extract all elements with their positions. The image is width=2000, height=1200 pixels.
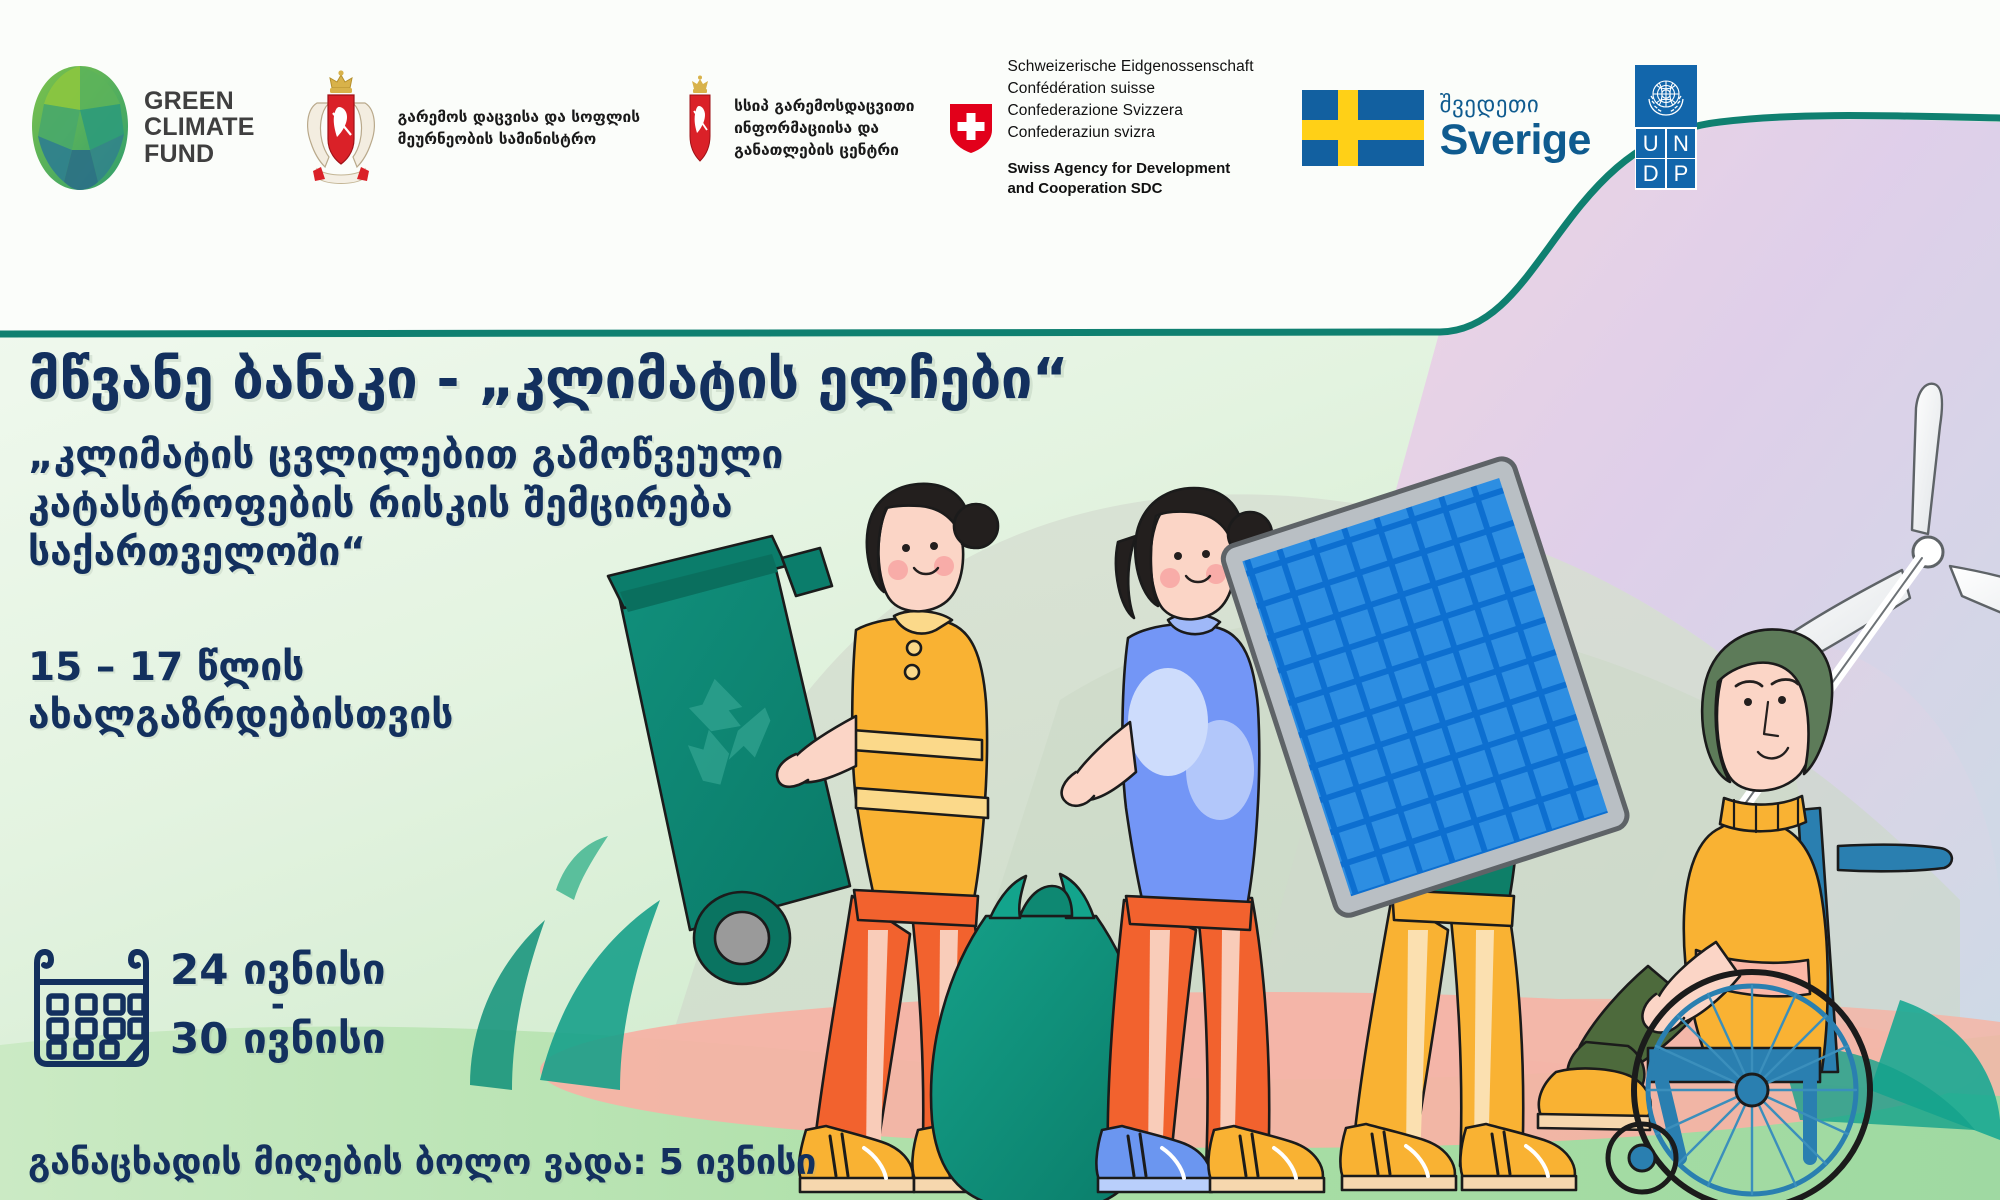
sweden-wordmark: შვედეთი Sverige — [1440, 93, 1591, 163]
sweden-name-latin: Sverige — [1440, 119, 1591, 163]
logo-sweden: შვედეთი Sverige — [1302, 90, 1591, 166]
calendar-icon — [32, 942, 152, 1068]
georgia-coat-of-arms-icon — [295, 69, 387, 187]
shoe — [1208, 1126, 1324, 1192]
poster-canvas: GREEN CLIMATE FUND — [0, 0, 2000, 1200]
undp-letter-d: D — [1636, 159, 1665, 188]
gcf-line-2: CLIMATE — [144, 114, 255, 141]
gcf-wordmark: GREEN CLIMATE FUND — [144, 88, 255, 168]
gcf-polygon-icon — [28, 64, 132, 192]
logo-green-climate-fund: GREEN CLIMATE FUND — [28, 64, 255, 192]
logo-info-education-centre: სსიპ გარემოსდაცვითი ინფორმაციისა და განა… — [676, 74, 914, 182]
shoe — [1460, 1124, 1576, 1190]
page-title: მწვანე ბანაკი - „კლიმატის ელჩები“ — [28, 350, 1098, 410]
swiss-wordmark: Schweizerische Eidgenossenschaft Confédé… — [1007, 56, 1253, 200]
logo-undp: U N D P — [1635, 65, 1697, 190]
logo-swiss-sdc: Schweizerische Eidgenossenschaft Confédé… — [948, 56, 1253, 200]
headline-block: მწვანე ბანაკი - „კლიმატის ელჩები“ „კლიმა… — [28, 350, 1098, 740]
swiss-languages: Schweizerische Eidgenossenschaft Confédé… — [1007, 56, 1253, 145]
application-deadline: განაცხადის მიღების ბოლო ვადა: 5 ივნისი — [28, 1142, 816, 1183]
shoe — [1340, 1124, 1456, 1190]
bin-wheel — [694, 892, 790, 984]
undp-letter-n: N — [1667, 129, 1696, 158]
swiss-shield-icon — [948, 102, 994, 154]
undp-letters: U N D P — [1635, 127, 1697, 190]
age-range-text: 15 – 17 წლის ახალგაზრდებისთვის — [28, 644, 1098, 741]
undp-letter-p: P — [1667, 159, 1696, 188]
gcf-line-1: GREEN — [144, 88, 255, 115]
undp-letter-u: U — [1636, 129, 1665, 158]
info-education-centre-name: სსიპ გარემოსდაცვითი ინფორმაციისა და განა… — [734, 95, 914, 161]
logo-ministry-environment: გარემოს დაცვისა და სოფლის მეურნეობის სამ… — [295, 69, 640, 187]
swiss-agency-name: Swiss Agency for Development and Coopera… — [1007, 159, 1253, 199]
shoe — [799, 1126, 914, 1192]
event-end-date: 30 ივნისი — [170, 1017, 386, 1062]
sweden-name-georgian: შვედეთი — [1440, 93, 1591, 117]
gcf-line-3: FUND — [144, 141, 255, 168]
undp-emblem-block: U N D P — [1635, 65, 1697, 190]
un-emblem-icon — [1643, 73, 1689, 119]
ministry-environment-name: გარემოს დაცვისა და სოფლის მეურნეობის სამ… — [398, 106, 640, 150]
partner-logo-bar: GREEN CLIMATE FUND — [0, 0, 1560, 255]
georgia-small-arms-icon — [676, 74, 724, 182]
shoe — [1096, 1126, 1212, 1192]
event-dates-block: 24 ივნისი - 30 ივნისი — [32, 942, 386, 1068]
event-dates-text: 24 ივნისი - 30 ივნისი — [170, 948, 386, 1062]
sweden-flag-icon — [1302, 90, 1424, 166]
solar-panel — [1220, 455, 1631, 919]
project-subtitle: „კლიმატის ცვლილებით გამოწვეული კატასტროფ… — [28, 432, 1098, 577]
